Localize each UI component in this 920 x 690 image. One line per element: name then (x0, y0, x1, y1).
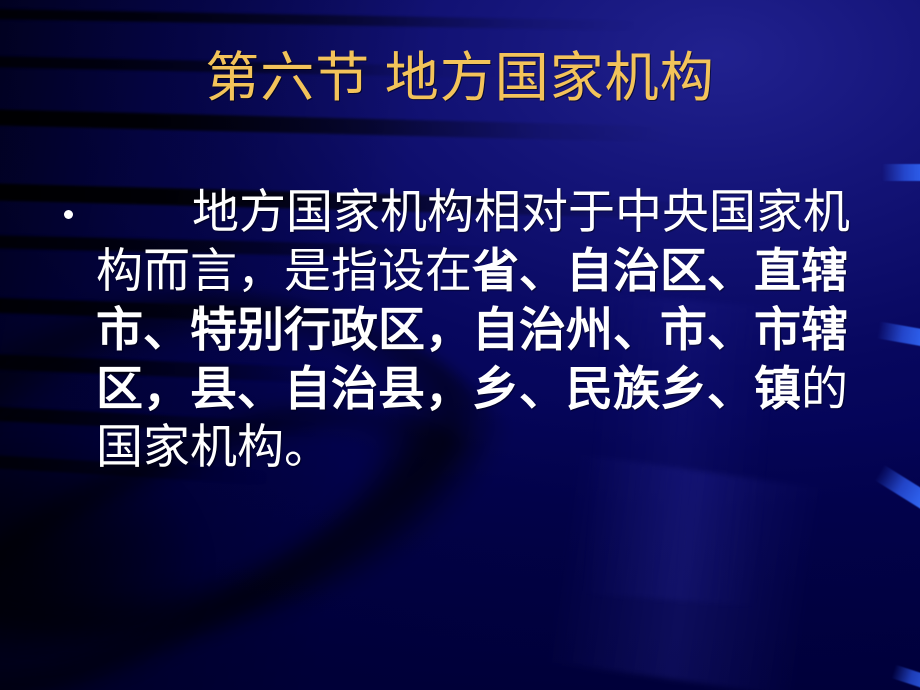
slide-body: 地方国家机构相对于中央国家机构而言，是指设在省、自治区、直辖市、特别行政区，自治… (58, 184, 870, 477)
accent-stripe (882, 164, 920, 181)
body-paragraph: 地方国家机构相对于中央国家机构而言，是指设在省、自治区、直辖市、特别行政区，自治… (58, 184, 870, 477)
slide-title: 第六节 地方国家机构 (0, 47, 920, 109)
bullet-list-item: 地方国家机构相对于中央国家机构而言，是指设在省、自治区、直辖市、特别行政区，自治… (58, 184, 870, 477)
presentation-slide: 第六节 地方国家机构 地方国家机构相对于中央国家机构而言，是指设在省、自治区、直… (0, 0, 920, 690)
bullet-dot-icon (64, 210, 73, 219)
